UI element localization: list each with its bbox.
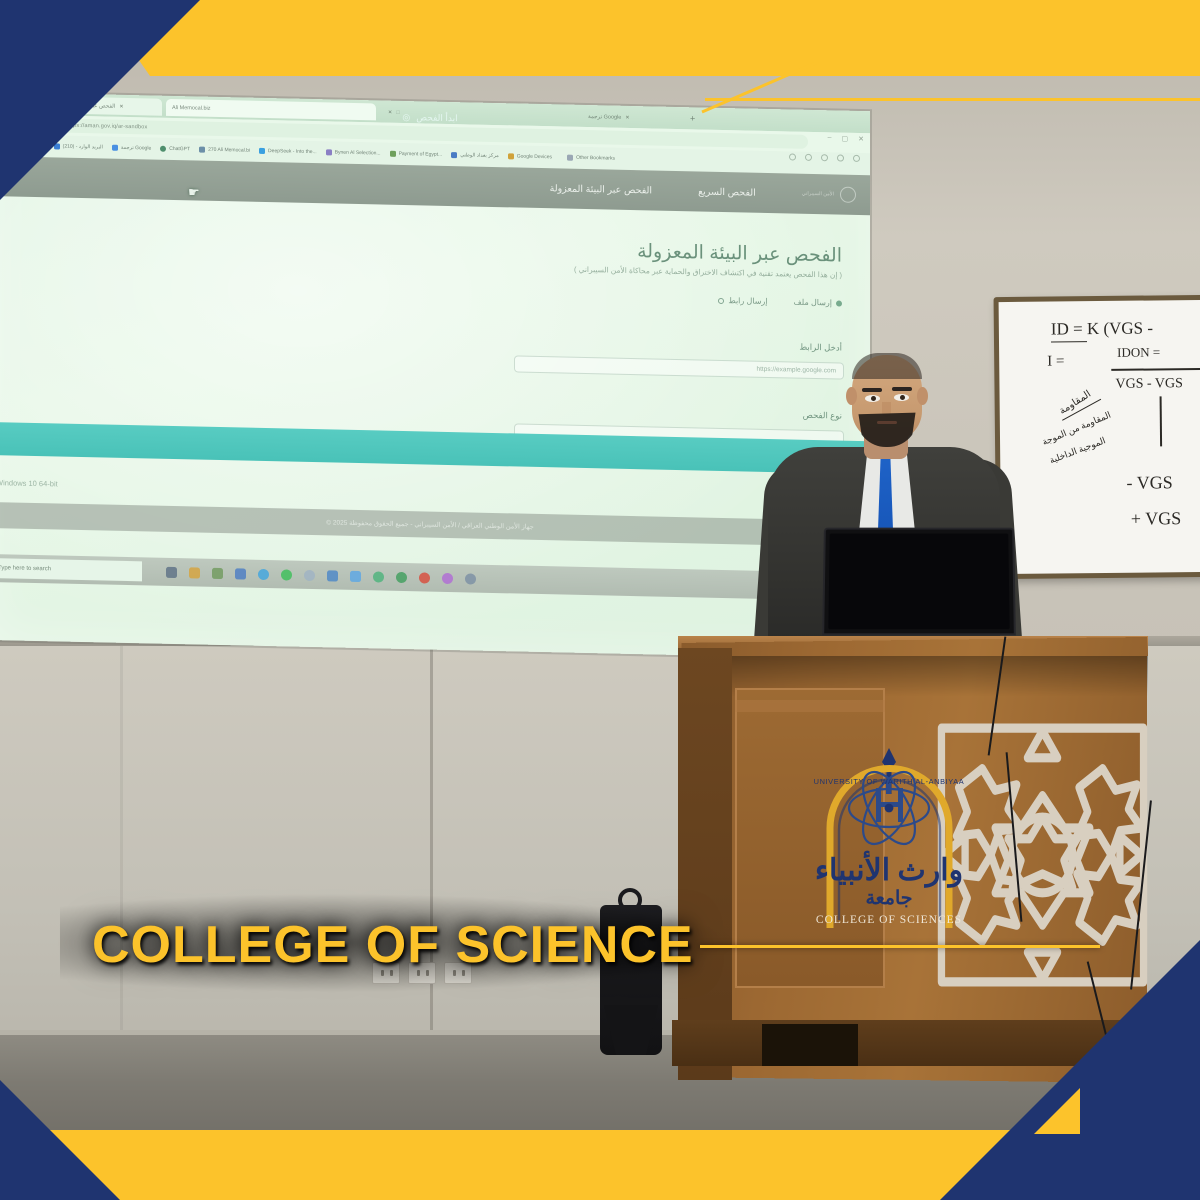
- favicon-icon: [160, 146, 166, 152]
- whiteboard-fraction-rule: [1111, 368, 1200, 371]
- notes-icon[interactable]: [212, 567, 223, 578]
- telegram-icon[interactable]: [258, 568, 269, 579]
- edge-icon[interactable]: [304, 569, 315, 580]
- other-bookmarks-label: Other Bookmarks: [576, 155, 615, 162]
- whiteboard-line: IDON =: [1117, 344, 1160, 360]
- hair: [852, 353, 922, 379]
- whiteboard: ID = K (VGS - I = IDON = VGS - VGS المقا…: [994, 295, 1200, 579]
- podium-recess: [762, 1024, 858, 1066]
- pupil-left: [871, 396, 876, 401]
- bookmark-item[interactable]: DeepSeek - Into the...: [259, 148, 317, 155]
- system-note: Windows 10 64-bit: [0, 478, 58, 488]
- whiteboard-arrow: [1160, 396, 1162, 446]
- whiteboard-line: + VGS: [1131, 508, 1182, 530]
- bookmark-label: Payment of Egypt...: [399, 151, 443, 158]
- radio-send-file[interactable]: إرسال ملف: [794, 298, 842, 308]
- eyebrow-right: [892, 387, 912, 391]
- radio-dot-icon: [718, 297, 724, 303]
- mouse-cursor-icon: ☛: [188, 184, 200, 200]
- site-brand-label: الأمن السيبراني: [802, 191, 834, 198]
- radio-dot-icon: [836, 300, 842, 306]
- bookmark-item[interactable]: Bynen Al Selection...: [326, 149, 381, 156]
- radio-label: إرسال ملف: [794, 298, 832, 308]
- store-icon[interactable]: [235, 568, 246, 579]
- site-brand: الأمن السيبراني: [802, 186, 856, 203]
- bookmark-label: 270 Ali Memocal.bi: [208, 147, 250, 154]
- favicon-icon: [451, 152, 457, 158]
- bookmark-item[interactable]: 270 Ali Memocal.bi: [199, 147, 250, 154]
- browser-icon[interactable]: [442, 572, 453, 583]
- bookmark-item[interactable]: Google Devices: [508, 153, 552, 160]
- bookmark-label: مركز بغداد الوطني: [460, 152, 499, 159]
- projection-screen: الفحص عبر البيئة المعزولة ✕ Ali Memocal.…: [0, 92, 870, 659]
- podium-left-face: [678, 648, 732, 1080]
- page-title-banner: COLLEGE OF SCIENCE: [92, 915, 694, 975]
- shield-icon: [840, 187, 856, 203]
- favicon-icon: [112, 145, 118, 151]
- submit-button-label: ابدأ الفحص: [416, 112, 457, 124]
- bookmark-item[interactable]: Payment of Egypt...: [390, 151, 443, 158]
- favicon-icon: [199, 147, 205, 153]
- browser-toolbar-icons[interactable]: [789, 153, 860, 162]
- radio-label: إرسال رابط: [728, 296, 767, 306]
- footer-text: © 2025 جهاز الأمن الوطني العراقي / الأمن…: [326, 518, 533, 531]
- share-icon[interactable]: [789, 153, 796, 160]
- extensions-icon[interactable]: [821, 154, 828, 161]
- task-view-icon[interactable]: [166, 566, 177, 577]
- bookmark-label: Bynen Al Selection...: [335, 150, 381, 157]
- star-icon[interactable]: [805, 154, 812, 161]
- search-placeholder: Type here to search: [0, 565, 51, 572]
- whiteboard-line: - VGS: [1126, 472, 1172, 493]
- whiteboard-line: VGS - VGS: [1115, 376, 1183, 393]
- bookmark-item[interactable]: ChatGPT: [160, 146, 190, 153]
- favicon-icon: [259, 148, 265, 154]
- university-logo: UNIVERSITY OF WARITH AL-ANBIYAA وارث الأ…: [812, 732, 967, 930]
- lecture-photo: الفحص عبر البيئة المعزولة ✕ Ali Memocal.…: [0, 0, 1200, 1200]
- logo-arabic-sub: جامعة: [865, 888, 912, 909]
- bookmark-label: (210) - البريد الوارد: [63, 144, 103, 151]
- ear-right: [917, 387, 928, 405]
- logo-arc-text: UNIVERSITY OF WARITH AL-ANBIYAA: [814, 777, 965, 786]
- podium-base: [672, 1020, 1152, 1066]
- whiteboard-line: I =: [1047, 353, 1064, 370]
- whiteboard-line: ID = K (VGS -: [1051, 318, 1153, 339]
- page-subtitle: ( إن هذا الفحص يعتمد تقنية في اكتشاف الا…: [574, 265, 842, 280]
- favicon-icon: [326, 149, 332, 155]
- mouth: [877, 421, 897, 424]
- taskbar-search-input[interactable]: Type here to search: [0, 558, 142, 581]
- menu-icon[interactable]: [853, 155, 860, 162]
- bookmark-label: Google Devices: [517, 153, 552, 160]
- favicon-icon: [390, 151, 396, 157]
- chrome-icon[interactable]: [373, 571, 384, 582]
- pdf-icon[interactable]: [419, 572, 430, 583]
- page-content: الفحص عبر البيئة المعزولة ( إن هذا الفحص…: [0, 196, 870, 555]
- file-explorer-icon[interactable]: [189, 567, 200, 578]
- scan-icon: ◎: [402, 112, 410, 123]
- excel-icon[interactable]: [396, 571, 407, 582]
- bookmark-label: ترجمة Google: [121, 145, 151, 152]
- islamic-star-lattice-icon: [935, 720, 1150, 990]
- bookmark-item[interactable]: (210) - البريد الوارد: [54, 143, 103, 150]
- link-field-label: أدخل الرابط: [799, 342, 842, 354]
- eyebrow-left: [862, 388, 882, 392]
- radio-send-link[interactable]: إرسال رابط: [718, 296, 767, 306]
- whiteboard-underline: [1051, 341, 1087, 343]
- taskbar-app-icons[interactable]: [166, 566, 476, 584]
- settings-icon[interactable]: [465, 573, 476, 584]
- word-icon[interactable]: [327, 570, 338, 581]
- laptop: [822, 528, 1016, 636]
- folder-icon: [567, 155, 573, 161]
- bookmark-item[interactable]: ترجمة Google: [112, 145, 151, 152]
- profile-icon[interactable]: [837, 154, 844, 161]
- bookmark-label: ChatGPT: [169, 146, 190, 152]
- logo-bottom-text: COLLEGE OF SCIENCES: [816, 914, 962, 926]
- mode-radio-group[interactable]: إرسال رابط إرسال ملف: [718, 296, 842, 308]
- pupil-right: [900, 395, 905, 400]
- bookmark-label: DeepSeek - Into the...: [268, 148, 317, 155]
- whatsapp-icon[interactable]: [281, 569, 292, 580]
- other-bookmarks-button[interactable]: Other Bookmarks: [567, 155, 615, 162]
- outlook-icon[interactable]: [350, 570, 361, 581]
- nav-link-sandbox-scan[interactable]: الفحص عبر البيئة المعزولة: [550, 183, 652, 196]
- podium-panel-groove: [735, 700, 885, 712]
- ear-left: [846, 387, 857, 405]
- poster-canvas: الفحص عبر البيئة المعزولة ✕ Ali Memocal.…: [0, 0, 1200, 1200]
- top-right-rule: [705, 98, 1200, 101]
- bookmark-item[interactable]: مركز بغداد الوطني: [451, 152, 499, 159]
- laptop-screen: [828, 533, 1009, 629]
- page-title: الفحص عبر البيئة المعزولة: [637, 240, 842, 267]
- favicon-icon: [508, 153, 514, 159]
- diagonal-accent-line: [700, 62, 820, 114]
- title-underline-rule: [700, 945, 1100, 948]
- logo-arabic-name: وارث الأنبياء: [815, 851, 963, 888]
- nav-link-quick-scan[interactable]: الفحص السريع: [698, 186, 756, 198]
